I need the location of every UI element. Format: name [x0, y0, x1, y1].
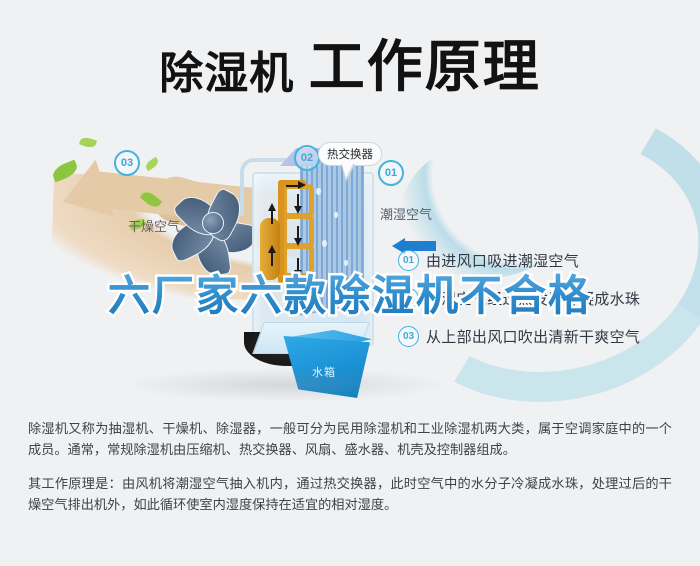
page-title-part-1: 除湿机 — [159, 49, 294, 98]
ground-shadow — [120, 368, 450, 402]
leaf-icon — [79, 136, 97, 150]
badge-01: 01 — [378, 160, 404, 186]
page-title: 除湿机 工作原理 — [0, 22, 700, 103]
flow-arrow-up-icon — [268, 245, 276, 253]
body-copy: 除湿机又称为抽湿机、干燥机、除湿器，一般可分为民用除湿机和工业除湿机两大类，属于… — [28, 418, 672, 515]
dehumidifier-unit: 水箱 — [252, 154, 380, 364]
step-number: 03 — [398, 326, 419, 347]
heat-exchanger-callout: 热交换器 — [318, 142, 382, 166]
leaf-icon — [144, 157, 160, 171]
dry-air-label: 干燥空气 — [128, 216, 180, 235]
page-title-part-2: 工作原理 — [309, 35, 541, 98]
flow-arrow-stem — [297, 194, 299, 206]
flow-arrow-down-icon — [294, 238, 302, 246]
step-text: 从上部出风口吹出清新干爽空气 — [426, 326, 640, 347]
flow-arrow-stem — [286, 185, 298, 187]
badge-03: 03 — [114, 150, 140, 176]
body-paragraph-1: 除湿机又称为抽湿机、干燥机、除湿器，一般可分为民用除湿机和工业除湿机两大类，属于… — [28, 418, 672, 460]
flow-arrow-up-icon — [268, 203, 276, 211]
list-item: 03 从上部出风口吹出清新干爽空气 — [398, 326, 698, 347]
water-droplet — [316, 188, 321, 195]
flow-arrow-down-icon — [294, 206, 302, 214]
water-droplet — [322, 240, 327, 247]
humid-air-label: 潮湿空气 — [380, 204, 432, 223]
flow-arrow-stem — [297, 226, 299, 238]
infographic-page: 除湿机 工作原理 — [0, 0, 700, 566]
body-paragraph-2: 其工作原理是：由风机将潮湿空气抽入机内，通过热交换器，此时空气中的水分子冷凝成水… — [28, 473, 672, 515]
water-droplet — [334, 212, 338, 218]
fan-hub — [202, 212, 224, 234]
flow-arrow-right-icon — [298, 181, 306, 189]
watermark-overlay: 六厂家六款除湿机不合格 六厂家六款除湿机不合格 — [0, 262, 700, 323]
badge-02: 02 — [294, 145, 320, 171]
flow-arrow-stem — [271, 210, 273, 224]
watermark-fill: 六厂家六款除湿机不合格 — [0, 262, 700, 323]
